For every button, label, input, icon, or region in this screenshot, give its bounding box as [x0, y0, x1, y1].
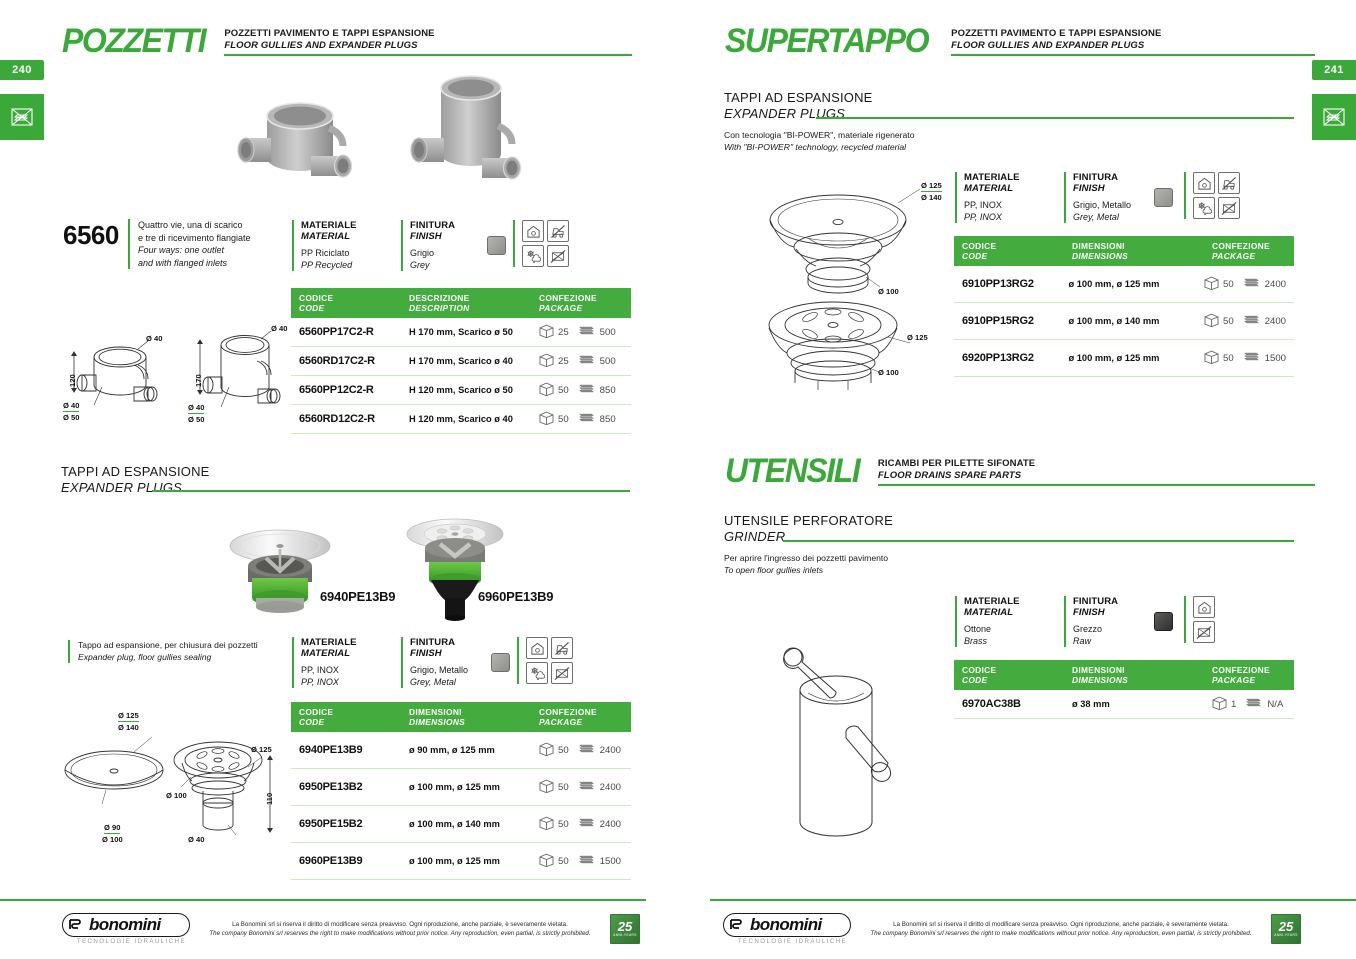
material-value-it: PP Riciclato: [301, 247, 387, 259]
finish-swatch-wrap: [487, 220, 513, 255]
col-code-en: CODE: [962, 251, 1072, 261]
cell-code: 6920PP13RG2: [962, 352, 1068, 364]
logo-wordmark: bonomini: [89, 916, 161, 934]
brand-title: SUPERTAPPO: [725, 24, 928, 58]
col-header-description: DESCRIZIONE DESCRIPTION: [409, 293, 539, 313]
section-head-en: EXPANDER PLUGS: [61, 480, 210, 496]
table-row[interactable]: 6560RD12C2-RH 120 mm, Scarico ø 4050850: [291, 405, 631, 434]
box-qty: 25: [558, 327, 569, 338]
box-icon: [1204, 313, 1219, 330]
house-indoor-icon: [1193, 172, 1215, 194]
pallet-icon: [1242, 277, 1261, 291]
anniversary-text: ANNI-YEARS: [1274, 933, 1297, 938]
col-header-code: CODICE CODE: [962, 241, 1072, 261]
box-qty: 50: [558, 745, 569, 756]
cell-package: 502400: [539, 779, 623, 796]
pallet-qty: 850: [600, 414, 616, 425]
footer-rule-right: [710, 899, 1356, 901]
finish-color-swatch: [487, 236, 506, 255]
logo-wordmark: bonomini: [750, 916, 822, 934]
pallet-icon: [1242, 314, 1261, 328]
pallet-qty: 1500: [600, 856, 621, 867]
finish-head-it: FINITURA: [410, 220, 473, 231]
finish-color-swatch: [1154, 188, 1173, 207]
pictogram-group: [513, 220, 569, 267]
material-value-en: PP, INOX: [964, 211, 1050, 223]
col-desc-it: DESCRIZIONE: [409, 293, 539, 303]
cell-package: 501500: [1204, 350, 1286, 367]
brand-logo: bonomini TECNOLOGIE IDRAULICHE: [723, 913, 851, 945]
finish-value-it: Grigio, Metallo: [410, 664, 477, 676]
table-row[interactable]: 6560PP12C2-RH 120 mm, Scarico ø 5050850: [291, 376, 631, 405]
left-page: POZZETTI POZZETTI PAVIMENTO E TAPPI ESPA…: [0, 0, 678, 959]
finish-head-en: FINISH: [1073, 607, 1140, 618]
brand-subtitle: POZZETTI PAVIMENTO E TAPPI ESPANSIONE FL…: [224, 24, 632, 56]
anniversary-number: 25: [1279, 920, 1293, 933]
brand-header-pozzetti: POZZETTI POZZETTI PAVIMENTO E TAPPI ESPA…: [62, 24, 632, 58]
section-rule: [816, 117, 1294, 119]
footer-right: bonomini TECNOLOGIE IDRAULICHE La Bonomi…: [723, 908, 1301, 950]
technical-drawing-expander: Ø 125 Ø 140 Ø 90 Ø 100 Ø 125 Ø 100 Ø 40 …: [58, 705, 288, 855]
col-header-code: CODICE CODE: [962, 665, 1072, 685]
grinder-note: Per aprire l'ingresso dei pozzetti pavim…: [724, 553, 1004, 576]
table-header: CODICE CODE DESCRIZIONE DESCRIPTION CONF…: [291, 288, 631, 318]
pallet-qty: 2400: [600, 819, 621, 830]
col-pack-it: CONFEZIONE: [539, 707, 623, 717]
logo-pill: bonomini: [723, 913, 851, 937]
table-row[interactable]: 6940PE13B9ø 90 mm, ø 125 mm502400: [291, 732, 631, 769]
finish-swatch-wrap: [491, 637, 517, 672]
cell-description: H 170 mm, Scarico ø 50: [409, 327, 539, 337]
dim-r-top: Ø 125: [251, 745, 272, 754]
table-body: 6560PP17C2-RH 170 mm, Scarico ø 50255006…: [291, 318, 631, 434]
dim-r-height: 110: [265, 793, 274, 805]
table-body: 6910PP13RG2ø 100 mm, ø 125 mm5024006910P…: [954, 266, 1294, 377]
pallet-qty: 2400: [600, 745, 621, 756]
desc-it-1: Quattro vie, una di scarico: [138, 219, 278, 232]
box-icon: [1212, 696, 1227, 713]
cell-package: 502400: [539, 816, 623, 833]
col-header-dimensions: DIMENSIONI DIMENSIONS: [409, 707, 539, 727]
section-rule: [783, 540, 1294, 542]
pallet-qty: 850: [600, 385, 616, 396]
finish-head-it: FINITURA: [1073, 596, 1140, 607]
finish-value-it: Grigio: [410, 247, 473, 259]
technical-drawing-6560: 120 Ø 40 Ø 40 Ø 50 170 Ø 40 Ø 40 Ø 50: [60, 305, 285, 435]
col-dim-it: DIMENSIONI: [1072, 665, 1212, 675]
material-block: MATERIALE MATERIAL Ottone Brass: [955, 596, 1050, 647]
col-code-en: CODE: [299, 717, 409, 727]
cell-code: 6910PP15RG2: [962, 315, 1068, 327]
note-it: Con tecnologia "BI-POWER", materiale rig…: [724, 130, 1004, 142]
col-header-package: CONFEZIONE PACKAGE: [1212, 241, 1286, 261]
cell-package: 501500: [539, 853, 623, 870]
anniversary-badge: 25 ANNI-YEARS: [610, 914, 640, 944]
table-row[interactable]: 6910PP13RG2ø 100 mm, ø 125 mm502400: [954, 266, 1294, 303]
col-header-code: CODICE CODE: [299, 707, 409, 727]
section-head-it: TAPPI AD ESPANSIONE: [724, 90, 873, 106]
finish-swatch-wrap: [1154, 596, 1184, 631]
pictogram-group: [1184, 172, 1240, 219]
spec-bar-6560: MATERIALE MATERIAL PP Riciclato PP Recyc…: [292, 220, 569, 271]
brand-subtitle-it: POZZETTI PAVIMENTO E TAPPI ESPANSIONE: [224, 28, 632, 40]
pallet-icon: [577, 817, 596, 831]
box-icon: [539, 853, 554, 870]
material-block: MATERIALE MATERIAL PP, INOX PP, INOX: [292, 637, 387, 688]
finish-head-en: FINISH: [1073, 183, 1140, 194]
cell-code: 6560PP12C2-R: [299, 384, 409, 396]
dim-bottom-b-2: Ø 50: [188, 415, 204, 424]
brand-subtitle-en: FLOOR GULLIES AND EXPANDER PLUGS: [951, 40, 1315, 52]
cell-package: 502400: [1204, 276, 1286, 293]
col-pack-en: PACKAGE: [539, 303, 623, 313]
col-pack-it: CONFEZIONE: [1212, 665, 1286, 675]
finish-color-swatch: [491, 653, 510, 672]
no-stack-icon: [547, 245, 569, 267]
cell-code: 6560RD12C2-R: [299, 413, 409, 425]
desc-en-2: and with flanged inlets: [138, 257, 278, 270]
box-qty: 50: [558, 782, 569, 793]
anniversary-text: ANNI-YEARS: [613, 933, 636, 938]
house-indoor-icon: [526, 637, 548, 659]
legal-it: La Bonomini srl si riserva il diritto di…: [861, 920, 1261, 929]
box-qty: 50: [558, 414, 569, 425]
bonomini-mark-icon: [68, 917, 84, 933]
brand-rule: [224, 54, 632, 56]
table-row[interactable]: 6560RD17C2-RH 170 mm, Scarico ø 4025500: [291, 347, 631, 376]
col-dim-it: DIMENSIONI: [409, 707, 539, 717]
col-code-it: CODICE: [299, 293, 409, 303]
finish-head-it: FINITURA: [410, 637, 477, 648]
pallet-qty: 2400: [1265, 316, 1286, 327]
material-value-it: PP, INOX: [301, 664, 387, 676]
finish-value-en: Grey, Metal: [1073, 211, 1140, 223]
cell-code: 6950PE13B2: [299, 781, 409, 793]
cell-description: ø 90 mm, ø 125 mm: [409, 745, 539, 755]
box-qty: 50: [558, 819, 569, 830]
house-indoor-icon: [522, 220, 544, 242]
bipower-note: Con tecnologia "BI-POWER", materiale rig…: [724, 130, 1004, 153]
house-indoor-icon: [1193, 596, 1215, 618]
material-value-en: PP, INOX: [301, 676, 387, 688]
footer-left: bonomini TECNOLOGIE IDRAULICHE La Bonomi…: [62, 908, 640, 950]
product-photo-6560-short: [225, 82, 375, 202]
cell-code: 6960PE13B9: [299, 855, 409, 867]
cell-description: H 120 mm, Scarico ø 40: [409, 414, 539, 424]
pallet-icon: [577, 412, 596, 426]
pallet-qty: 2400: [600, 782, 621, 793]
col-header-code: CODICE CODE: [299, 293, 409, 313]
material-head-en: MATERIAL: [964, 183, 1050, 194]
col-dim-en: DIMENSIONS: [1072, 251, 1212, 261]
pallet-icon: [577, 743, 596, 757]
box-icon: [539, 353, 554, 370]
product-table-expander: CODICE CODE DIMENSIONI DIMENSIONS CONFEZ…: [291, 702, 631, 880]
logo-tagline: TECNOLOGIE IDRAULICHE: [723, 938, 851, 945]
box-qty: 50: [1223, 353, 1234, 364]
brand-title: UTENSILI: [725, 454, 859, 488]
brand-rule: [878, 484, 1315, 486]
col-header-dimensions: DIMENSIONI DIMENSIONS: [1072, 241, 1212, 261]
product-table-grinder: CODICE CODE DIMENSIONI DIMENSIONS CONFEZ…: [954, 660, 1294, 719]
no-stack-icon: [551, 662, 573, 684]
brand-logo: bonomini TECNOLOGIE IDRAULICHE: [62, 913, 190, 945]
spec-bar-grinder: MATERIALE MATERIAL Ottone Brass FINITURA…: [955, 596, 1215, 647]
bonomini-mark-icon: [729, 917, 745, 933]
product-photo-6960PE13B9: [400, 512, 520, 622]
finish-value-en: Grey: [410, 259, 473, 271]
box-icon: [1204, 350, 1219, 367]
cell-package: 502400: [539, 742, 623, 759]
footer-rule-left: [0, 899, 646, 901]
box-qty: 25: [558, 356, 569, 367]
dim-bot-1: Ø 90: [104, 823, 120, 834]
pallet-qty: 500: [600, 356, 616, 367]
technical-drawing-grinder: [768, 635, 958, 860]
section-head-it: TAPPI AD ESPANSIONE: [61, 464, 210, 480]
col-code-en: CODE: [299, 303, 409, 313]
box-qty: 1: [1231, 699, 1236, 710]
cell-package: 502400: [1204, 313, 1286, 330]
dim-bottom-a-1: Ø 40: [63, 401, 79, 412]
spec-bar-supertappo: MATERIALE MATERIAL PP, INOX PP, INOX FIN…: [955, 172, 1240, 223]
box-icon: [539, 779, 554, 796]
table-row[interactable]: 6560PP17C2-RH 170 mm, Scarico ø 5025500: [291, 318, 631, 347]
weather-frost-icon: [526, 662, 548, 684]
cell-description: H 170 mm, Scarico ø 40: [409, 356, 539, 366]
no-lawnmower-icon: [547, 220, 569, 242]
cell-description: ø 100 mm, ø 125 mm: [1068, 279, 1204, 289]
cell-package: 50850: [539, 382, 623, 399]
box-qty: 50: [1223, 316, 1234, 327]
section-head-it: UTENSILE PERFORATORE: [724, 513, 893, 529]
pallet-qty: N/A: [1267, 699, 1283, 710]
table-header: CODICE CODE DIMENSIONI DIMENSIONS CONFEZ…: [954, 236, 1294, 266]
pallet-icon: [577, 383, 596, 397]
spec-bar-expander: MATERIALE MATERIAL PP, INOX PP, INOX FIN…: [292, 637, 573, 688]
cell-package: 25500: [539, 353, 623, 370]
table-header: CODICE CODE DIMENSIONI DIMENSIONS CONFEZ…: [954, 660, 1294, 690]
brand-subtitle: POZZETTI PAVIMENTO E TAPPI ESPANSIONE FL…: [951, 24, 1315, 56]
technical-drawing-supertappo: Ø 125 Ø 140 Ø 100 Ø 125 Ø 100: [738, 165, 968, 390]
cell-description: H 120 mm, Scarico ø 50: [409, 385, 539, 395]
col-pack-en: PACKAGE: [539, 717, 623, 727]
finish-block: FINITURA FINISH Grigio, Metallo Grey, Me…: [401, 637, 477, 688]
brand-subtitle: RICAMBI PER PILETTE SIFONATE FLOOR DRAIN…: [878, 454, 1315, 486]
brand-subtitle-en: FLOOR DRAINS SPARE PARTS: [878, 470, 1315, 482]
table-body: 6940PE13B9ø 90 mm, ø 125 mm5024006950PE1…: [291, 732, 631, 880]
dim-bottom-b-1: Ø 40: [188, 403, 204, 414]
material-value-en: PP Recycled: [301, 259, 387, 271]
pallet-icon: [577, 354, 596, 368]
no-lawnmower-icon: [1218, 172, 1240, 194]
dim-b2: Ø 100: [878, 368, 899, 377]
table-row[interactable]: 6950PE15B2ø 100 mm, ø 140 mm502400: [291, 806, 631, 843]
col-pack-it: CONFEZIONE: [1212, 241, 1286, 251]
cell-description: ø 100 mm, ø 125 mm: [1068, 353, 1204, 363]
brand-header-utensili: UTENSILI RICAMBI PER PILETTE SIFONATE FL…: [725, 454, 1315, 488]
col-code-it: CODICE: [962, 241, 1072, 251]
col-dim-en: DIMENSIONS: [409, 717, 539, 727]
finish-value-it: Grigio, Metallo: [1073, 199, 1140, 211]
desc-it-2: e tre di ricevimento flangiate: [138, 232, 278, 245]
pallet-icon: [577, 854, 596, 868]
section-head-en: EXPANDER PLUGS: [724, 106, 873, 122]
legal-it: La Bonomini srl si riserva il diritto di…: [200, 920, 600, 929]
finish-value-en: Raw: [1073, 635, 1140, 647]
cell-description: ø 100 mm, ø 140 mm: [1068, 316, 1204, 326]
cell-code: 6910PP13RG2: [962, 278, 1068, 290]
finish-block: FINITURA FINISH Grigio, Metallo Grey, Me…: [1064, 172, 1140, 223]
legal-text: La Bonomini srl si riserva il diritto di…: [851, 920, 1271, 938]
dim-t3: Ø 100: [878, 287, 899, 296]
cell-code: 6940PE13B9: [299, 744, 409, 756]
dim-t1: Ø 125: [921, 181, 942, 192]
dim-bot-2: Ø 100: [102, 835, 123, 844]
logo-pill: bonomini: [62, 913, 190, 937]
box-icon: [1204, 276, 1219, 293]
cell-code: 6560PP17C2-R: [299, 326, 409, 338]
box-qty: 50: [558, 385, 569, 396]
finish-head-en: FINISH: [410, 648, 477, 659]
material-head-it: MATERIALE: [301, 220, 387, 231]
box-icon: [539, 382, 554, 399]
pallet-qty: 2400: [1265, 279, 1286, 290]
finish-value-it: Grezzo: [1073, 623, 1140, 635]
dim-bottom-a-2: Ø 50: [63, 413, 79, 422]
dim-height-b: 170: [194, 374, 203, 387]
col-header-package: CONFEZIONE PACKAGE: [539, 707, 623, 727]
expander-note: Tappo ad espansione, per chiusura dei po…: [68, 640, 278, 663]
product-big-code: 6560: [63, 220, 119, 251]
weather-frost-icon: [522, 245, 544, 267]
note-it: Per aprire l'ingresso dei pozzetti pavim…: [724, 553, 1004, 565]
col-header-package: CONFEZIONE PACKAGE: [539, 293, 623, 313]
box-icon: [539, 816, 554, 833]
no-lawnmower-icon: [551, 637, 573, 659]
table-row[interactable]: 6910PP15RG2ø 100 mm, ø 140 mm502400: [954, 303, 1294, 340]
brand-subtitle-it: POZZETTI PAVIMENTO E TAPPI ESPANSIONE: [951, 28, 1315, 40]
cell-code: 6970AC38B: [962, 698, 1072, 710]
dim-r-bottom: Ø 40: [188, 835, 204, 844]
cell-description: ø 38 mm: [1072, 699, 1212, 709]
material-head-it: MATERIALE: [301, 637, 387, 648]
no-stack-icon: [1193, 621, 1215, 643]
product-table-6560: CODICE CODE DESCRIZIONE DESCRIPTION CONF…: [291, 288, 631, 434]
dim-top-a: Ø 40: [146, 334, 162, 343]
box-icon: [539, 411, 554, 428]
pallet-icon: [1242, 351, 1261, 365]
brand-subtitle-en: FLOOR GULLIES AND EXPANDER PLUGS: [224, 40, 632, 52]
table-row[interactable]: 6960PE13B9ø 100 mm, ø 125 mm501500: [291, 843, 631, 880]
material-value-it: PP, INOX: [964, 199, 1050, 211]
pictogram-group: [1184, 596, 1215, 643]
cell-code: 6560RD17C2-R: [299, 355, 409, 367]
section-rule: [152, 490, 630, 492]
col-header-package: CONFEZIONE PACKAGE: [1212, 665, 1286, 685]
catalogue-spread: 240 241 POZZETTI POZZETTI PAVIMENTO E TA…: [0, 0, 1356, 959]
table-row[interactable]: 6920PP13RG2ø 100 mm, ø 125 mm501500: [954, 340, 1294, 377]
section-head-en: GRINDER: [724, 529, 893, 545]
photo-callout-6960: 6960PE13B9: [478, 589, 553, 604]
col-dim-en: DIMENSIONS: [1072, 675, 1212, 685]
material-head-en: MATERIAL: [964, 607, 1050, 618]
box-qty: 50: [1223, 279, 1234, 290]
cell-package: 25500: [539, 324, 623, 341]
product-table-supertappo: CODICE CODE DIMENSIONI DIMENSIONS CONFEZ…: [954, 236, 1294, 377]
col-dim-it: DIMENSIONI: [1072, 241, 1212, 251]
material-value-it: Ottone: [964, 623, 1050, 635]
anniversary-number: 25: [618, 920, 632, 933]
material-head-it: MATERIALE: [964, 596, 1050, 607]
table-row[interactable]: 6970AC38Bø 38 mm1N/A: [954, 690, 1294, 719]
col-desc-en: DESCRIPTION: [409, 303, 539, 313]
pallet-qty: 500: [600, 327, 616, 338]
pictogram-group: [517, 637, 573, 684]
table-row[interactable]: 6950PE13B2ø 100 mm, ø 125 mm502400: [291, 769, 631, 806]
no-stack-icon: [1218, 197, 1240, 219]
logo-tagline: TECNOLOGIE IDRAULICHE: [62, 938, 190, 945]
note-en: With "BI-POWER" technology, recycled mat…: [724, 142, 1004, 154]
dim-t2: Ø 140: [921, 193, 942, 202]
table-header: CODICE CODE DIMENSIONI DIMENSIONS CONFEZ…: [291, 702, 631, 732]
pallet-icon: [577, 780, 596, 794]
anniversary-badge: 25 ANNI-YEARS: [1271, 914, 1301, 944]
cell-description: ø 100 mm, ø 140 mm: [409, 819, 539, 829]
pallet-icon: [577, 325, 596, 339]
note-en: To open floor gullies inlets: [724, 565, 1004, 577]
finish-head-it: FINITURA: [1073, 172, 1140, 183]
cell-description: ø 100 mm, ø 125 mm: [409, 856, 539, 866]
finish-swatch-wrap: [1154, 172, 1184, 207]
brand-rule: [951, 54, 1315, 56]
brand-header-supertappo: SUPERTAPPO POZZETTI PAVIMENTO E TAPPI ES…: [725, 24, 1315, 58]
col-pack-en: PACKAGE: [1212, 675, 1286, 685]
cell-description: ø 100 mm, ø 125 mm: [409, 782, 539, 792]
material-head-en: MATERIAL: [301, 231, 387, 242]
weather-frost-icon: [1193, 197, 1215, 219]
dim-top-2: Ø 140: [118, 723, 139, 732]
desc-en-1: Four ways: one outlet: [138, 244, 278, 257]
dim-top-1: Ø 125: [118, 711, 139, 722]
dim-height-a: 120: [68, 374, 77, 387]
material-value-en: Brass: [964, 635, 1050, 647]
brand-subtitle-it: RICAMBI PER PILETTE SIFONATE: [878, 458, 1315, 470]
pallet-qty: 1500: [1265, 353, 1286, 364]
finish-block: FINITURA FINISH Grigio Grey: [401, 220, 473, 271]
material-block: MATERIALE MATERIAL PP, INOX PP, INOX: [955, 172, 1050, 223]
cell-package: 50850: [539, 411, 623, 428]
material-block: MATERIALE MATERIAL PP Riciclato PP Recyc…: [292, 220, 387, 271]
finish-block: FINITURA FINISH Grezzo Raw: [1064, 596, 1140, 647]
box-icon: [539, 324, 554, 341]
note-en: Expander plug, floor gullies sealing: [78, 652, 278, 664]
material-head-it: MATERIALE: [964, 172, 1050, 183]
col-pack-it: CONFEZIONE: [539, 293, 623, 303]
pallet-icon: [1244, 697, 1263, 711]
dim-r-side: Ø 100: [166, 791, 187, 800]
legal-en: The company Bonomini srl reserves the ri…: [861, 929, 1261, 938]
dim-b1: Ø 125: [907, 333, 928, 342]
product-photo-6560-tall: [398, 62, 548, 204]
table-body: 6970AC38Bø 38 mm1N/A: [954, 690, 1294, 719]
right-page: SUPERTAPPO POZZETTI PAVIMENTO E TAPPI ES…: [678, 0, 1356, 959]
finish-head-en: FINISH: [410, 231, 473, 242]
col-pack-en: PACKAGE: [1212, 251, 1286, 261]
col-code-it: CODICE: [299, 707, 409, 717]
col-code-it: CODICE: [962, 665, 1072, 675]
box-icon: [539, 742, 554, 759]
